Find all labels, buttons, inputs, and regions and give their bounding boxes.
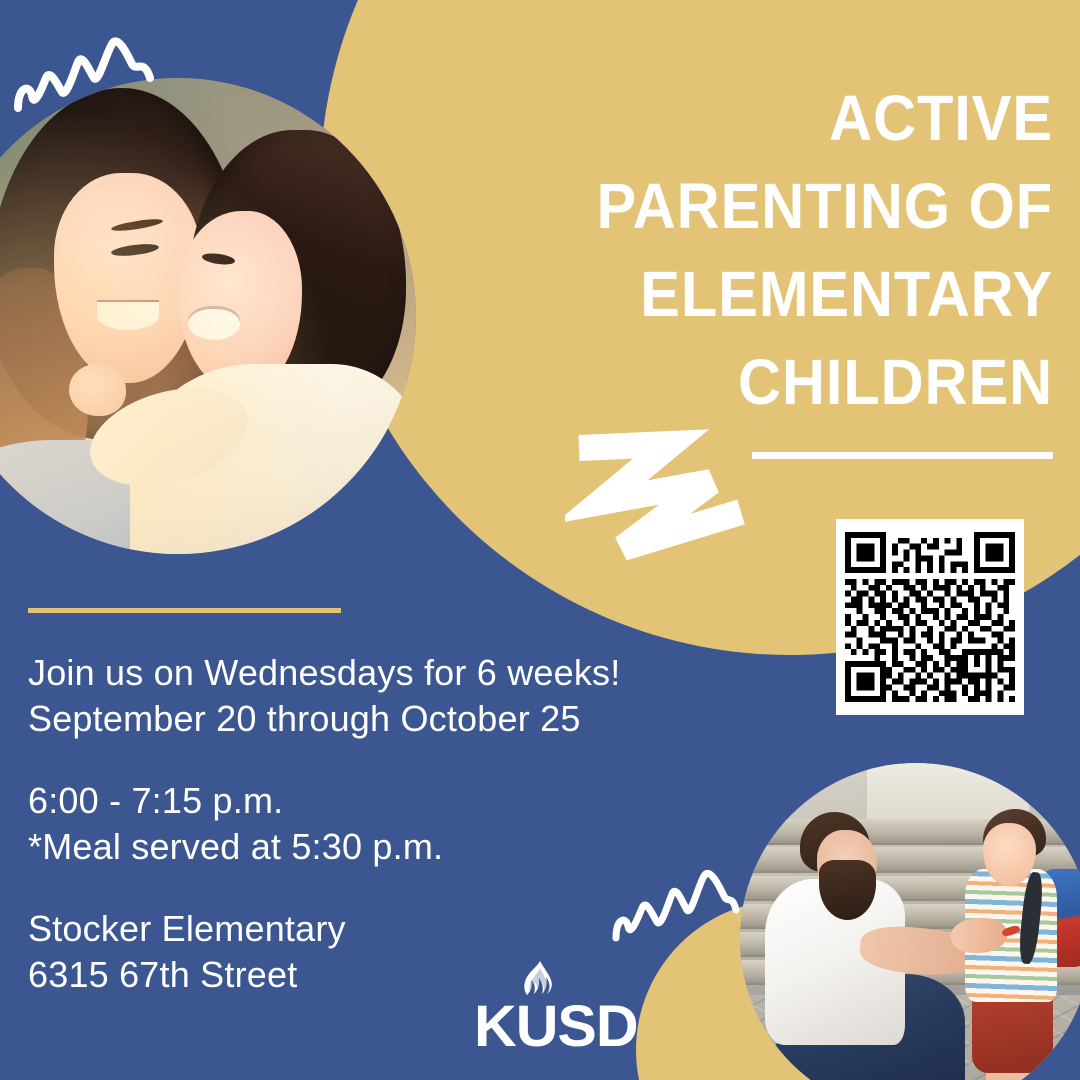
father-kneeling-with-son-photo bbox=[740, 763, 1080, 1080]
title-line-1: ACTIVE bbox=[532, 74, 1053, 162]
mother-hugging-son-photo bbox=[0, 78, 416, 554]
brush-zigzag-icon bbox=[565, 424, 765, 568]
poster-title: ACTIVE PARENTING OF ELEMENTARY CHILDREN bbox=[532, 74, 1053, 426]
time-line-1: 6:00 - 7:15 p.m. bbox=[28, 778, 688, 824]
schedule-line-1: Join us on Wednesdays for 6 weeks! bbox=[28, 650, 688, 696]
time-line-2: *Meal served at 5:30 p.m. bbox=[28, 824, 688, 870]
title-line-4: CHILDREN bbox=[532, 338, 1053, 426]
title-underline-rule bbox=[752, 452, 1053, 459]
squiggle-icon bbox=[8, 24, 160, 114]
squiggle-icon bbox=[608, 858, 740, 944]
kusd-wordmark: KUSD bbox=[474, 998, 625, 1056]
time-block: 6:00 - 7:15 p.m. *Meal served at 5:30 p.… bbox=[28, 778, 688, 870]
event-details: Join us on Wednesdays for 6 weeks! Septe… bbox=[28, 650, 688, 998]
section-divider-rule bbox=[28, 608, 341, 613]
schedule-block: Join us on Wednesdays for 6 weeks! Septe… bbox=[28, 650, 688, 742]
qr-code-registration[interactable] bbox=[836, 519, 1024, 715]
poster-canvas: ACTIVE PARENTING OF ELEMENTARY CHILDREN bbox=[0, 0, 1080, 1080]
title-line-3: ELEMENTARY bbox=[532, 250, 1053, 338]
kusd-logo: KUSD bbox=[474, 962, 622, 1054]
location-line-1: Stocker Elementary bbox=[28, 906, 688, 952]
schedule-line-2: September 20 through October 25 bbox=[28, 696, 688, 742]
title-line-2: PARENTING OF bbox=[532, 162, 1053, 250]
photo-sun-flare bbox=[0, 78, 416, 554]
